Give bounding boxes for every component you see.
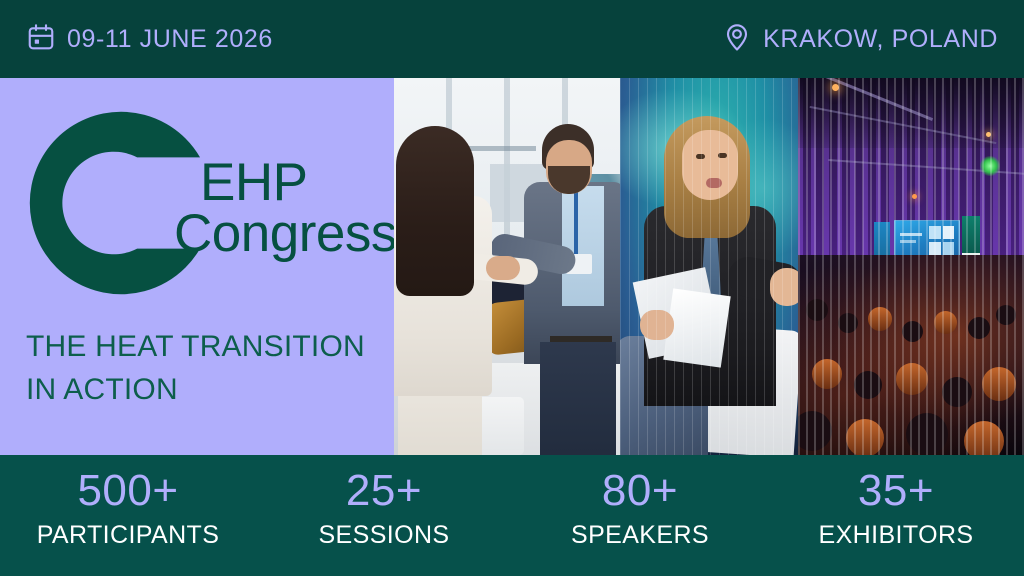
photo3-screen-tile-4 bbox=[943, 242, 954, 255]
photo3-crowd-head bbox=[854, 371, 882, 399]
photo3-crowd-head bbox=[838, 313, 858, 333]
stats-bar: 500+ PARTICIPANTS 25+ SESSIONS 80+ SPEAK… bbox=[0, 455, 1024, 576]
brand-panel: EHP Congress THE HEAT TRANSITION IN ACTI… bbox=[0, 78, 394, 455]
event-date-text: 09-11 JUNE 2026 bbox=[67, 25, 273, 54]
photo2-speaker-eye-left bbox=[696, 154, 705, 159]
photo3-crowd-head bbox=[902, 321, 923, 342]
photo2-speaker-mouth bbox=[706, 178, 722, 188]
photo-auditorium-audience bbox=[798, 78, 1024, 455]
photo1-woman-hair bbox=[396, 126, 474, 296]
photo2-speaker-hand-left bbox=[640, 310, 674, 340]
photo3-screen-tile-1 bbox=[929, 226, 941, 239]
event-banner: 09-11 JUNE 2026 KRAKOW, POLAND bbox=[0, 0, 1024, 576]
banner-body: EHP Congress THE HEAT TRANSITION IN ACTI… bbox=[0, 78, 1024, 455]
event-date: 09-11 JUNE 2026 bbox=[26, 22, 273, 57]
photo3-crowd-head bbox=[934, 311, 957, 334]
stat-exhibitors: 35+ EXHIBITORS bbox=[768, 455, 1024, 548]
photo3-screen-text-line1 bbox=[900, 233, 922, 236]
stat-sessions: 25+ SESSIONS bbox=[256, 455, 512, 548]
logo-line-congress: Congress bbox=[174, 209, 394, 260]
photo3-spotlight-3 bbox=[986, 132, 991, 137]
photo3-crowd-head bbox=[996, 305, 1016, 325]
photo3-spotlight-1 bbox=[832, 84, 839, 91]
stat-sessions-number: 25+ bbox=[256, 469, 512, 513]
photo3-screen-text-line2 bbox=[900, 240, 916, 243]
stat-sessions-label: SESSIONS bbox=[256, 523, 512, 548]
photo3-crowd-head bbox=[982, 367, 1016, 401]
photo3-crowd-head bbox=[968, 317, 990, 339]
photo3-screen-tile-2 bbox=[943, 226, 954, 239]
stat-speakers: 80+ SPEAKERS bbox=[512, 455, 768, 548]
photo1-lanyard bbox=[574, 190, 578, 260]
stat-speakers-label: SPEAKERS bbox=[512, 523, 768, 548]
photo3-crowd-head bbox=[942, 377, 972, 407]
logo-line-ehp: EHP bbox=[174, 158, 394, 209]
photo2-speaker-eye-right bbox=[718, 153, 727, 158]
logo-wordmark: EHP Congress bbox=[174, 158, 394, 260]
photo1-handshake bbox=[486, 256, 520, 280]
photo3-crowd-head bbox=[806, 299, 828, 321]
photo3-crowd-head bbox=[906, 413, 948, 455]
stat-participants: 500+ PARTICIPANTS bbox=[0, 455, 256, 548]
photo3-crowd-head bbox=[868, 307, 892, 331]
stat-speakers-number: 80+ bbox=[512, 469, 768, 513]
photo3-spotlight-2 bbox=[912, 194, 917, 199]
photo3-crowd bbox=[798, 255, 1024, 455]
event-location: KRAKOW, POLAND bbox=[722, 22, 998, 57]
photo3-crowd-head bbox=[812, 359, 842, 389]
photo-networking-handshake bbox=[394, 78, 620, 455]
photo1-man-trousers bbox=[540, 342, 616, 455]
stat-exhibitors-number: 35+ bbox=[768, 469, 1024, 513]
photo3-crowd-head bbox=[846, 419, 884, 455]
photo-panel-speaker bbox=[620, 78, 798, 455]
location-pin-icon bbox=[722, 22, 752, 57]
stat-participants-number: 500+ bbox=[0, 469, 256, 513]
stat-participants-label: PARTICIPANTS bbox=[0, 523, 256, 548]
banner-header: 09-11 JUNE 2026 KRAKOW, POLAND bbox=[0, 0, 1024, 78]
photo3-crowd-head bbox=[964, 421, 1004, 455]
photo2-speaker-face bbox=[682, 130, 738, 200]
photo2-speaker-hand bbox=[770, 268, 798, 306]
photo1-man-shirt bbox=[562, 186, 604, 306]
photo3-crowd-head bbox=[798, 411, 832, 451]
photo3-green-light bbox=[980, 156, 1000, 176]
calendar-icon bbox=[26, 22, 56, 57]
photo3-crowd-head bbox=[896, 363, 928, 395]
congress-logo: EHP Congress bbox=[26, 108, 386, 308]
event-tagline: THE HEAT TRANSITION IN ACTION bbox=[26, 326, 386, 411]
stat-exhibitors-label: EXHIBITORS bbox=[768, 523, 1024, 548]
event-location-text: KRAKOW, POLAND bbox=[763, 25, 998, 54]
photo3-screen-tile-3 bbox=[929, 242, 941, 255]
